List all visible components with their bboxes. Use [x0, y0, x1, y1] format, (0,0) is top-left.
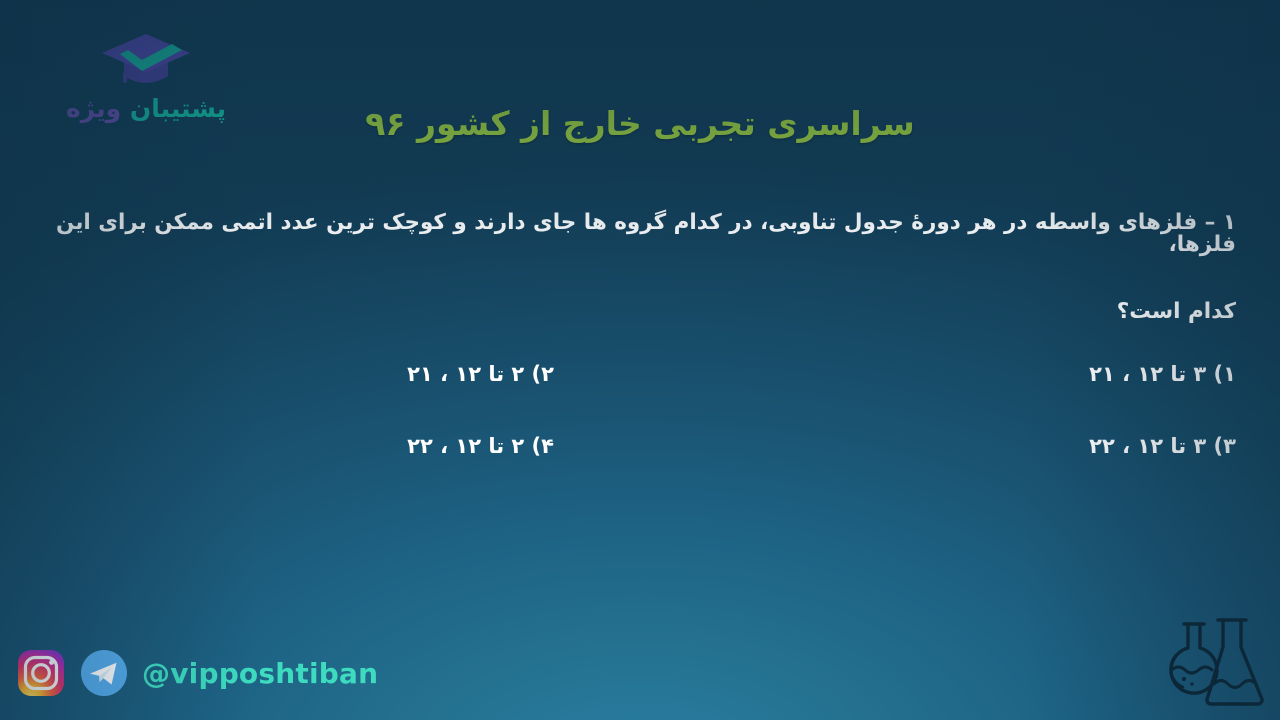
- instagram-icon[interactable]: [16, 648, 66, 698]
- option-4[interactable]: ۴) ۲ تا ۱۲ ، ۲۲: [44, 434, 640, 458]
- answer-options: ۱) ۳ تا ۱۲ ، ۲۱ ۲) ۲ تا ۱۲ ، ۲۱ ۳) ۳ تا …: [44, 355, 1236, 499]
- page-title: سراسری تجربی خارج از کشور ۹۶: [0, 104, 1280, 143]
- chemistry-flasks-icon: [1160, 612, 1272, 716]
- option-3[interactable]: ۳) ۳ تا ۱۲ ، ۲۲: [640, 434, 1236, 458]
- question-text: ۱ – فلزهای واسطه در هر دورهٔ جدول تناوبی…: [44, 212, 1236, 323]
- social-handle[interactable]: @vipposhtiban: [142, 657, 378, 690]
- question-line-2: کدام است؟: [44, 301, 1236, 323]
- options-row-top: ۱) ۳ تا ۱۲ ، ۲۱ ۲) ۲ تا ۱۲ ، ۲۱: [44, 355, 1236, 393]
- graduation-cap-check-icon: [98, 30, 194, 92]
- option-2[interactable]: ۲) ۲ تا ۱۲ ، ۲۱: [44, 362, 640, 386]
- social-footer: @vipposhtiban: [16, 648, 378, 698]
- options-row-bottom: ۳) ۳ تا ۱۲ ، ۲۲ ۴) ۲ تا ۱۲ ، ۲۲: [44, 427, 1236, 465]
- telegram-icon[interactable]: [79, 648, 129, 698]
- option-1[interactable]: ۱) ۳ تا ۱۲ ، ۲۱: [640, 362, 1236, 386]
- slide-background: پشتیبان ویژه سراسری تجربی خارج از کشور ۹…: [0, 0, 1280, 720]
- question-line-1: ۱ – فلزهای واسطه در هر دورهٔ جدول تناوبی…: [44, 212, 1236, 255]
